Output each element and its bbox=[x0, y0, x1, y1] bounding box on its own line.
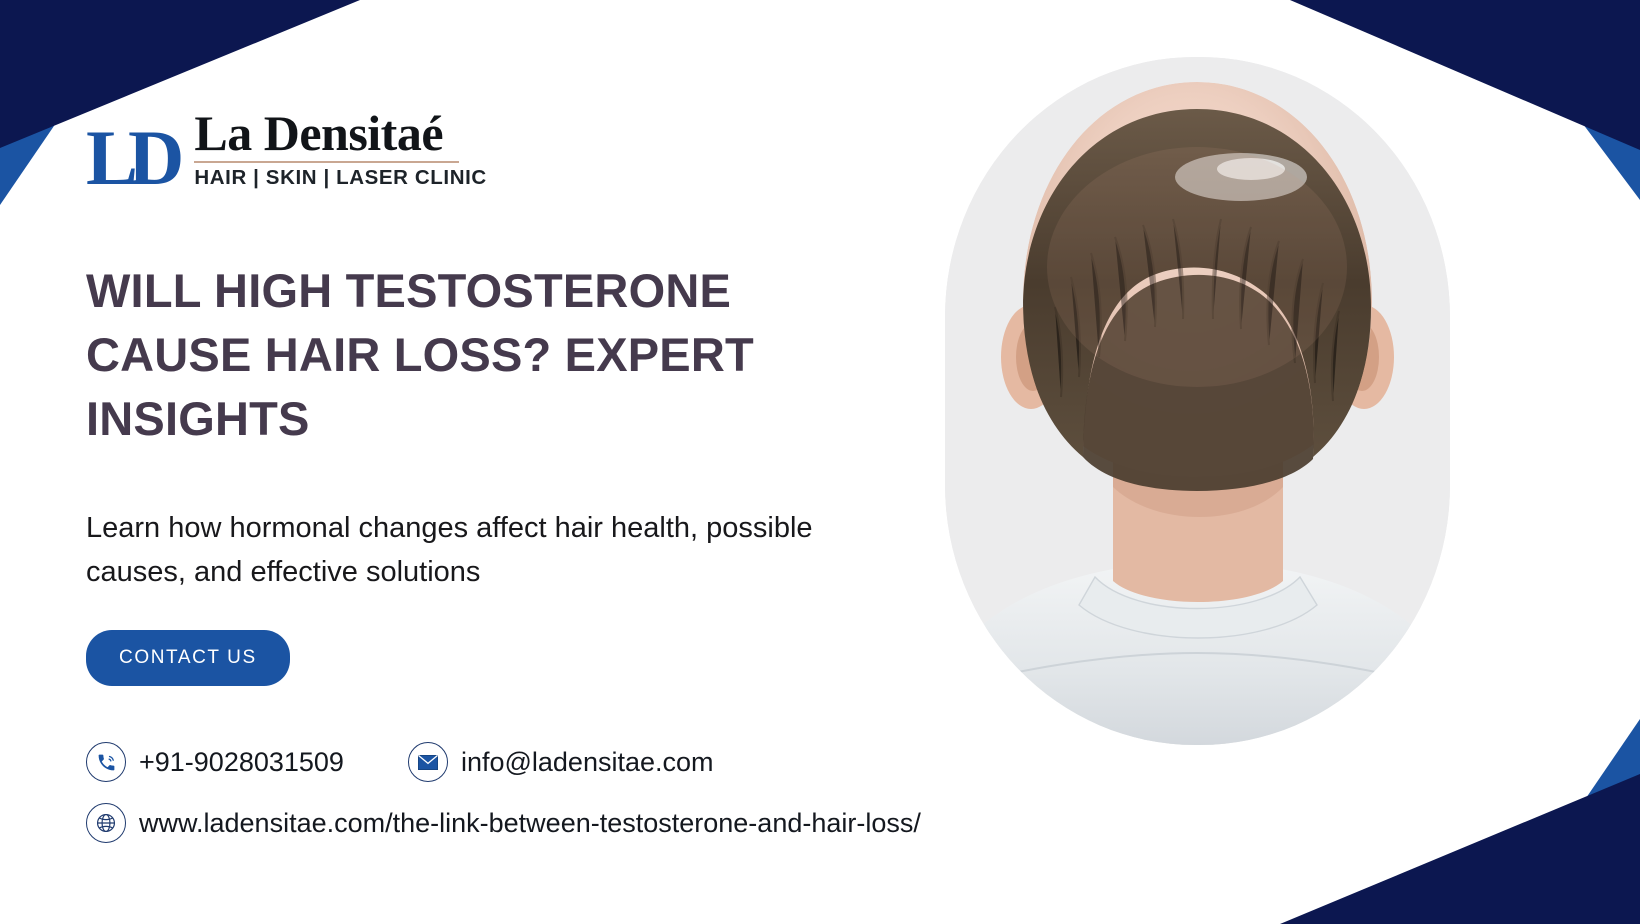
contact-phone[interactable]: +91-9028031509 bbox=[86, 742, 344, 782]
globe-icon bbox=[86, 803, 126, 843]
contact-info: +91-9028031509 info@ladensitae.com bbox=[86, 742, 1206, 864]
balding-head-illustration bbox=[945, 57, 1450, 745]
contact-row-primary: +91-9028031509 info@ladensitae.com bbox=[86, 742, 1206, 782]
banner-root: LD La Densitaé HAIR | SKIN | LASER CLINI… bbox=[0, 0, 1640, 924]
logo-divider bbox=[194, 161, 459, 163]
corner-bottom-right-navy bbox=[1280, 774, 1640, 924]
logo-wordmark: La Densitaé HAIR | SKIN | LASER CLINIC bbox=[194, 108, 486, 190]
content-column: LD La Densitaé HAIR | SKIN | LASER CLINI… bbox=[86, 0, 896, 924]
contact-email[interactable]: info@ladensitae.com bbox=[408, 742, 714, 782]
hero-photo bbox=[945, 57, 1450, 745]
brand-name: La Densitaé bbox=[194, 108, 486, 158]
brand-logo: LD La Densitaé HAIR | SKIN | LASER CLINI… bbox=[86, 108, 487, 190]
corner-bottom-right-blue bbox=[1500, 719, 1640, 924]
contact-row-website: www.ladensitae.com/the-link-between-test… bbox=[86, 803, 1206, 843]
website-url: www.ladensitae.com/the-link-between-test… bbox=[139, 808, 921, 839]
contact-us-button[interactable]: CONTACT US bbox=[86, 630, 290, 686]
email-address: info@ladensitae.com bbox=[461, 747, 714, 778]
corner-top-right-blue bbox=[1490, 0, 1640, 200]
phone-icon bbox=[86, 742, 126, 782]
brand-tagline: HAIR | SKIN | LASER CLINIC bbox=[194, 166, 486, 190]
page-subtitle: Learn how hormonal changes affect hair h… bbox=[86, 506, 876, 594]
envelope-icon bbox=[408, 742, 448, 782]
logo-monogram-icon: LD bbox=[86, 126, 194, 190]
phone-number: +91-9028031509 bbox=[139, 747, 344, 778]
page-title: WILL HIGH TESTOSTERONE CAUSE HAIR LOSS? … bbox=[86, 259, 831, 451]
contact-website[interactable]: www.ladensitae.com/the-link-between-test… bbox=[86, 803, 921, 843]
